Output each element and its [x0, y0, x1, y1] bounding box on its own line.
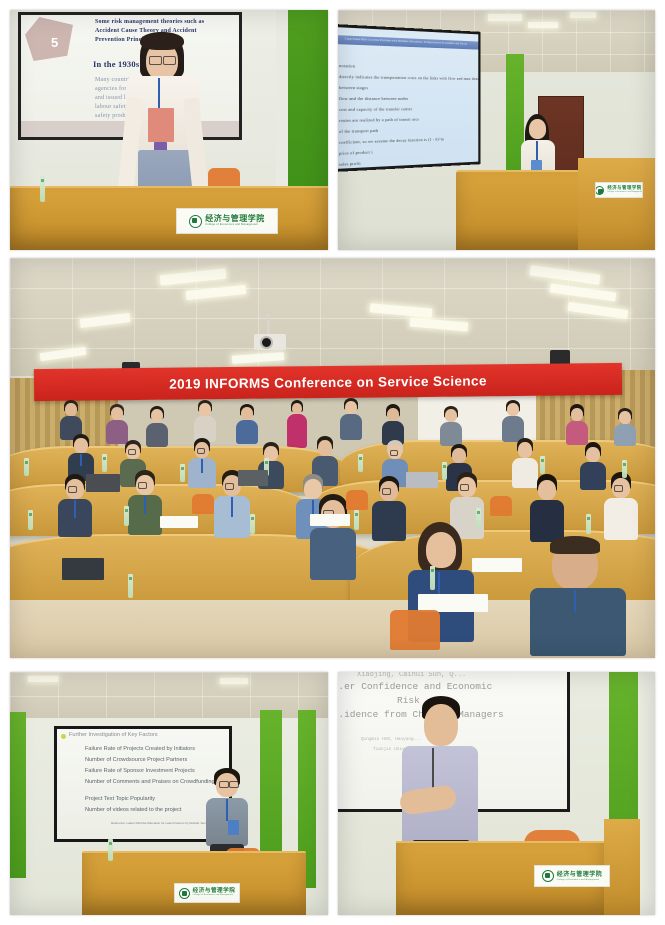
- audience-member: [440, 406, 462, 444]
- projection-screen-frame: Capacitated Hub Location Problem with Mu…: [338, 24, 481, 172]
- slide-bullet-2: Number of Crowdsource Project Partners: [85, 757, 187, 763]
- presenter-head: [424, 704, 458, 746]
- ceiling-projector-icon: [254, 334, 286, 350]
- audience-member-foreground: [530, 540, 626, 652]
- slide-line-0: Xiaojing, Caihui Sun, Q...: [357, 672, 466, 679]
- water-bottle: [180, 464, 185, 482]
- laptop: [238, 470, 268, 486]
- audience-member: [188, 438, 216, 486]
- slide-eq-8: price of product i: [339, 150, 373, 156]
- audience-member: [580, 442, 606, 488]
- podium-logo-cn: 经济与管理学院: [607, 187, 641, 191]
- water-bottle: [102, 454, 107, 472]
- water-bottle: [28, 510, 33, 530]
- podium-logo-en: College of Economics and Management: [607, 192, 642, 194]
- podium: [10, 186, 328, 250]
- presenter-badge-red: [148, 108, 174, 142]
- college-logo-icon: [542, 870, 554, 882]
- podium-logo-plate: 经济与管理学院 College of Economics and Managem…: [174, 883, 240, 903]
- laptop: [406, 472, 438, 488]
- presenter-hair-front: [140, 32, 184, 50]
- photo-top-left[interactable]: 5 Some risk management theories such as …: [10, 10, 328, 250]
- chair-orange: [346, 490, 368, 510]
- slide-eq-1: directly indicates the transportation co…: [339, 74, 478, 81]
- college-logo-icon: [189, 215, 202, 228]
- paper-handout: [310, 514, 350, 526]
- paper-handout: [472, 558, 522, 572]
- presenter-badge: [228, 820, 239, 835]
- podium-logo-en: College of Economics and Management: [557, 879, 599, 881]
- water-bottle: [40, 176, 45, 202]
- audience-member: [530, 474, 564, 540]
- audience-member: [502, 400, 524, 440]
- water-bottle: [128, 574, 133, 598]
- audience-member: [566, 404, 588, 442]
- chair-orange: [192, 494, 214, 514]
- slide-bullet-1: Failure Rate of Projects Created by Init…: [85, 746, 195, 752]
- slide-line-1: Some risk management theories such as: [95, 19, 204, 25]
- paper-handout: [160, 516, 198, 528]
- audience-member: [146, 406, 168, 444]
- chair-orange: [390, 610, 440, 650]
- projector-mount: [267, 314, 270, 336]
- laptop: [86, 474, 120, 492]
- front-speaker: [286, 400, 308, 452]
- slide-eq-6: of the transport path: [339, 128, 378, 134]
- photo-top-right[interactable]: Capacitated Hub Location Problem with Mu…: [338, 10, 655, 250]
- presenter-glasses-right: [163, 56, 176, 65]
- audience-member: [372, 476, 406, 540]
- podium-logo-plate: 经济与管理学院 College of Economics and Managem…: [176, 208, 278, 234]
- slide-eq-7: coefficient, so we assume the decay func…: [339, 137, 444, 145]
- wall-green-panel-left: [10, 712, 26, 878]
- water-bottle: [124, 506, 129, 526]
- water-bottle: [358, 454, 363, 472]
- conference-banner: 2019 INFORMS Conference on Service Scien…: [34, 363, 622, 401]
- room-scene-bottom-right: Xiaojing, Caihui Sun, Q... ...er Confide…: [338, 672, 655, 915]
- water-bottle: [430, 566, 435, 590]
- chair-orange: [490, 496, 512, 516]
- photo-collage: 5 Some risk management theories such as …: [0, 0, 665, 925]
- water-bottle: [354, 510, 359, 530]
- presenter-head: [529, 119, 546, 139]
- water-bottle: [622, 460, 627, 478]
- laptop: [62, 558, 104, 580]
- podium-logo-cn: 经济与管理学院: [557, 872, 603, 878]
- audience-member: [382, 404, 404, 442]
- conference-banner-text: 2019 INFORMS Conference on Service Scien…: [169, 373, 487, 391]
- slide-eq-5: routes are realized by a path of transit…: [339, 117, 419, 123]
- podium-logo-plate: 经济与管理学院 College of Economics and Managem…: [534, 865, 610, 887]
- presenter-lanyard: [226, 799, 228, 821]
- college-logo-icon: [179, 888, 190, 899]
- water-bottle: [586, 514, 591, 534]
- photo-center-wide[interactable]: 2019 INFORMS Conference on Service Scien…: [10, 258, 655, 658]
- podium-logo-en: College of Economics and Management: [205, 224, 258, 227]
- audience-member: [60, 400, 82, 438]
- podium-logo-en: College of Economics and Management: [193, 895, 234, 897]
- slide-eq-4: cost and capacity of the transfer center: [339, 106, 412, 111]
- slide-badge-number: 5: [51, 35, 58, 50]
- presenter-lanyard: [158, 78, 160, 112]
- audience-member: [236, 404, 258, 442]
- slide-line-1: ...er Confidence and Economic: [338, 681, 492, 692]
- podium-logo-plate: 经济与管理学院 College of Economics and Managem…: [595, 182, 643, 198]
- podium-logo-cn: 经济与管理学院: [205, 215, 265, 223]
- podium-side: [578, 158, 655, 250]
- slide-bullet-5: Project Text Topic Popularity: [85, 796, 155, 802]
- room-scene-lecture-hall: 2019 INFORMS Conference on Service Scien…: [10, 258, 655, 658]
- presenter-glasses: [219, 781, 229, 788]
- audience-member: [604, 472, 638, 538]
- college-logo-icon: [595, 186, 604, 195]
- slide-eq-0: notation: [339, 63, 355, 68]
- projection-screen: Capacitated Hub Location Problem with Mu…: [338, 27, 478, 169]
- water-bottle: [250, 514, 255, 534]
- slide-eq-9: sales profit: [339, 161, 361, 167]
- slide-bullet-3: Failure Rate of Sponsor Investment Proje…: [85, 768, 195, 774]
- water-bottle: [476, 508, 481, 528]
- presenter-lanyard: [536, 141, 538, 161]
- room-scene-bottom-left: Further Investigation of Key Factors Fai…: [10, 672, 328, 915]
- room-scene-top-left: 5 Some risk management theories such as …: [10, 10, 328, 250]
- audience-member: [194, 400, 216, 440]
- water-bottle: [108, 839, 113, 861]
- water-bottle: [24, 458, 29, 476]
- slide-eq-2: between stages: [339, 85, 368, 90]
- room-scene-top-right: Capacitated Hub Location Problem with Mu…: [338, 10, 655, 250]
- presenter-glasses: [149, 56, 162, 65]
- slide-eq-3: flow and the distance between nodes: [339, 96, 408, 101]
- presenter-glasses-right: [229, 781, 239, 788]
- audience-member: [106, 404, 128, 442]
- slide-badge-pentagon: [25, 17, 73, 61]
- audience-member: [340, 398, 362, 438]
- slide-title: Further Investigation of Key Factors: [69, 732, 158, 738]
- slide-bullet-6: Number of videos related to the project: [85, 807, 181, 813]
- wall-right-edge: [638, 672, 655, 915]
- water-bottle: [442, 462, 447, 480]
- water-bottle: [540, 456, 545, 474]
- photo-bottom-right[interactable]: Xiaojing, Caihui Sun, Q... ...er Confide…: [338, 672, 655, 915]
- photo-bottom-left[interactable]: Further Investigation of Key Factors Fai…: [10, 672, 328, 915]
- audience-member: [614, 408, 636, 444]
- audience-member: [128, 470, 162, 534]
